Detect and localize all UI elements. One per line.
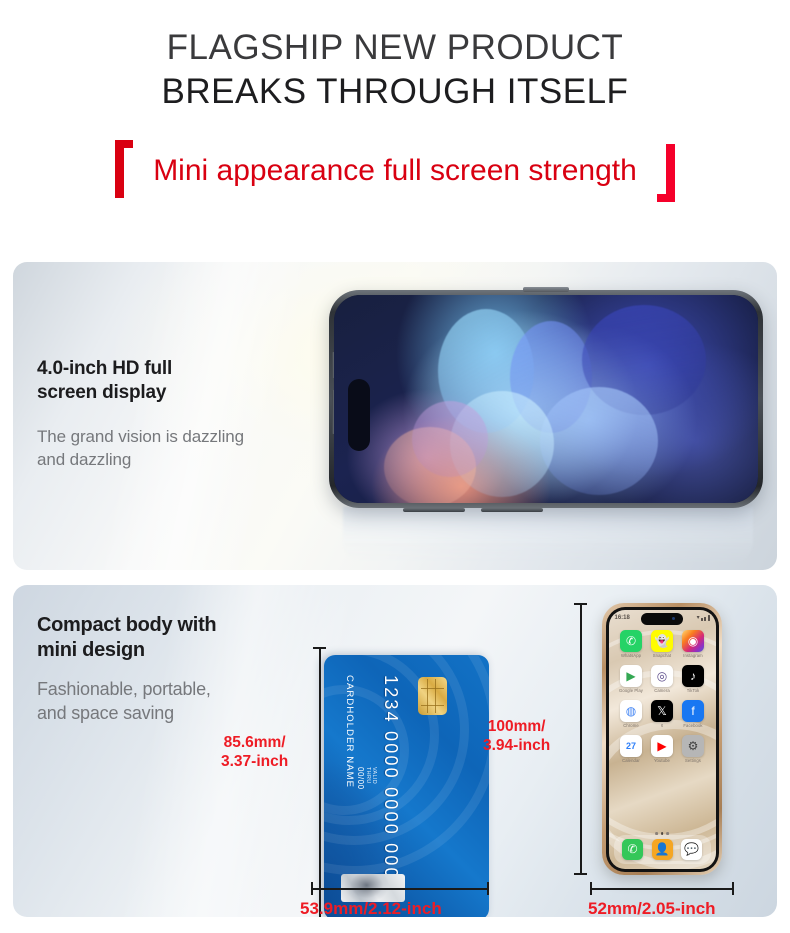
card-height-line-1: 85.6mm/ xyxy=(221,733,288,752)
landscape-phone-image xyxy=(329,290,763,508)
card-valid-date: 00/00 xyxy=(356,767,365,790)
calendar-icon[interactable]: 27 xyxy=(620,735,642,757)
display-heading: 4.0-inch HD full screen display xyxy=(37,357,244,405)
chrome-icon[interactable]: ◍ xyxy=(620,700,642,722)
app-label: Calendar xyxy=(622,758,640,763)
page-header: FLAGSHIP NEW PRODUCT BREAKS THROUGH ITSE… xyxy=(0,0,790,245)
app-item[interactable]: 𝕏X xyxy=(647,700,678,729)
dimension-line-phone-width xyxy=(590,882,734,895)
card-number: 1234 0000 0000 0000 xyxy=(380,675,401,892)
contacts-icon[interactable]: 👤 xyxy=(652,839,673,860)
signal-bar-3 xyxy=(708,615,710,621)
size-heading-line-2: mini design xyxy=(37,638,216,663)
app-label: Google Play xyxy=(619,688,643,693)
facebook-icon[interactable]: f xyxy=(682,700,704,722)
card-valid-line-2: THRU xyxy=(365,767,371,784)
signal-bar-2 xyxy=(704,617,706,622)
card-height-line-2: 3.37-inch xyxy=(221,752,288,771)
signal-bar-1 xyxy=(701,618,703,621)
instagram-icon[interactable]: ◉ xyxy=(682,630,704,652)
app-label: Settings xyxy=(685,758,701,763)
headline-line-1: FLAGSHIP NEW PRODUCT xyxy=(0,26,790,70)
app-grid: ✆WhatsApp👻Snapchat◉Instagram▶Google Play… xyxy=(609,630,716,764)
dimension-label-card-height: 85.6mm/ 3.37-inch xyxy=(221,733,288,771)
phone-height-line-1: 100mm/ xyxy=(483,717,550,736)
bracket-left-icon xyxy=(105,140,131,202)
status-indicators: ▾ xyxy=(697,615,710,621)
app-item[interactable]: 27Calendar xyxy=(616,735,647,764)
app-item[interactable]: ♪TikTok xyxy=(678,665,709,694)
display-subtext-line-2: and dazzling xyxy=(37,448,244,471)
card-valid-line-1: VALID xyxy=(371,767,377,784)
app-item[interactable]: ◍Chrome xyxy=(616,700,647,729)
dimension-label-phone-width: 52mm/2.05-inch xyxy=(588,899,716,917)
app-label: X xyxy=(661,723,664,728)
phone-top-speaker xyxy=(523,287,569,292)
app-dock: ✆👤💬 xyxy=(614,835,711,864)
app-label: Snapchat xyxy=(653,653,672,658)
app-item[interactable]: ✆WhatsApp xyxy=(616,630,647,659)
phone-call-icon[interactable]: ✆ xyxy=(622,839,643,860)
messages-icon[interactable]: 💬 xyxy=(681,839,702,860)
card-valid-label: VALID THRU xyxy=(365,767,377,784)
app-label: WhatsApp xyxy=(621,653,641,658)
credit-card: 1234 0000 0000 0000 VALID THRU 00/00 CAR… xyxy=(324,655,489,917)
display-subtext-line-1: The grand vision is dazzling xyxy=(37,425,244,448)
portrait-phone-screen: 16:18 ▾ ✆WhatsApp👻Snapchat◉Instagram▶Goo… xyxy=(609,610,716,869)
size-subtext-line-1: Fashionable, portable, xyxy=(37,677,216,701)
phone-wallpaper xyxy=(334,295,758,503)
app-item[interactable]: ◉Instagram xyxy=(678,630,709,659)
display-heading-line-2: screen display xyxy=(37,381,244,405)
app-label: Chrome xyxy=(623,723,639,728)
wifi-icon: ▾ xyxy=(697,615,700,621)
portrait-phone-image: 16:18 ▾ ✆WhatsApp👻Snapchat◉Instagram▶Goo… xyxy=(602,603,722,875)
size-copy-block: Compact body with mini design Fashionabl… xyxy=(37,613,216,725)
size-subtext: Fashionable, portable, and space saving xyxy=(37,677,216,725)
app-label: Instagram xyxy=(683,653,703,658)
settings-gear-icon[interactable]: ⚙ xyxy=(682,735,704,757)
app-item[interactable]: ⚙Settings xyxy=(678,735,709,764)
dimension-label-card-width: 53.9mm/2.12-inch xyxy=(300,899,442,917)
app-item[interactable]: ▶Youtube xyxy=(647,735,678,764)
dimension-line-card-width xyxy=(311,882,489,895)
bracket-right-icon xyxy=(659,140,685,202)
dimension-line-card-height xyxy=(313,647,326,917)
subtitle-text: Mini appearance full screen strength xyxy=(153,152,637,190)
app-item[interactable]: 👻Snapchat xyxy=(647,630,678,659)
app-label: TikTok xyxy=(687,688,700,693)
app-item[interactable]: fFacebook xyxy=(678,700,709,729)
tiktok-icon[interactable]: ♪ xyxy=(682,665,704,687)
dimension-label-phone-height: 100mm/ 3.94-inch xyxy=(483,717,550,755)
dynamic-island xyxy=(348,379,370,451)
headline-line-2: BREAKS THROUGH ITSELF xyxy=(0,70,790,114)
youtube-icon[interactable]: ▶ xyxy=(651,735,673,757)
portrait-dynamic-island xyxy=(641,613,683,625)
size-heading: Compact body with mini design xyxy=(37,613,216,663)
display-heading-line-1: 4.0-inch HD full xyxy=(37,357,244,381)
size-heading-line-1: Compact body with xyxy=(37,613,216,638)
app-item[interactable]: ▶Google Play xyxy=(616,665,647,694)
status-time: 16:18 xyxy=(615,615,630,621)
headline-block: FLAGSHIP NEW PRODUCT BREAKS THROUGH ITSE… xyxy=(0,26,790,114)
credit-card-image: 1234 0000 0000 0000 VALID THRU 00/00 CAR… xyxy=(324,655,489,917)
x-twitter-icon[interactable]: 𝕏 xyxy=(651,700,673,722)
app-label: Youtube xyxy=(654,758,670,763)
feature-panel-size: Compact body with mini design Fashionabl… xyxy=(13,585,777,917)
app-label: Camera xyxy=(654,688,670,693)
whatsapp-icon[interactable]: ✆ xyxy=(620,630,642,652)
phone-bottom-speaker-left xyxy=(403,508,465,512)
dimension-line-phone-height xyxy=(574,603,587,875)
card-chip-icon xyxy=(418,677,447,715)
camera-icon[interactable]: ◎ xyxy=(651,665,673,687)
snapchat-icon[interactable]: 👻 xyxy=(651,630,673,652)
size-subtext-line-2: and space saving xyxy=(37,701,216,725)
phone-bottom-speaker-right xyxy=(481,508,543,512)
product-detail-page: FLAGSHIP NEW PRODUCT BREAKS THROUGH ITSE… xyxy=(0,0,790,933)
display-copy-block: 4.0-inch HD full screen display The gran… xyxy=(37,357,244,471)
card-holder-name: CARDHOLDER NAME xyxy=(344,675,355,788)
app-label: Facebook xyxy=(683,723,702,728)
display-subtext: The grand vision is dazzling and dazzlin… xyxy=(37,425,244,471)
feature-panel-display: 4.0-inch HD full screen display The gran… xyxy=(13,262,777,570)
phone-reflection xyxy=(343,507,753,565)
phone-display-inner xyxy=(334,295,758,503)
subtitle-row: Mini appearance full screen strength xyxy=(0,140,790,202)
phone-height-line-2: 3.94-inch xyxy=(483,736,550,755)
app-item[interactable]: ◎Camera xyxy=(647,665,678,694)
google-play-icon[interactable]: ▶ xyxy=(620,665,642,687)
